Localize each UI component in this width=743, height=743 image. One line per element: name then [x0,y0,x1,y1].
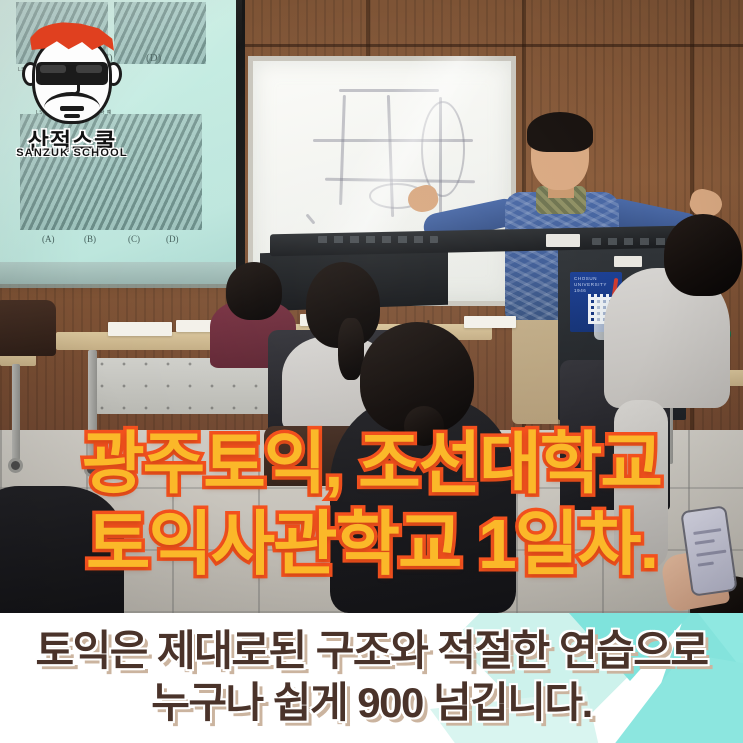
screen-taskbar [0,262,242,288]
banner-text-block: 토익은 제대로된 구조와 적절한 연습으로 누구나 쉽게 900 넘깁니다. [0,625,743,729]
desk-paper [108,322,172,336]
slide-option-a-bottom: (A) [42,234,55,244]
whiteboard-mark [421,101,465,197]
slide-option-d: (D) [146,52,161,64]
student-head [664,214,742,296]
whiteboard-mark [305,213,315,224]
student-head [226,262,282,320]
student-puffer-sleeve [614,400,668,570]
classroom-chair [0,300,56,356]
screen-edge-frame [236,0,245,288]
sunglasses-highlight-icon [40,65,66,73]
whiteboard-mark [339,95,346,205]
desk-leg [12,364,20,460]
banner-line-1: 토익은 제대로된 구조와 적절한 연습으로 [0,625,743,677]
phone-screen-line [695,539,715,545]
bottom-caption-banner: 토익은 제대로된 구조와 적절한 연습으로 누구나 쉽게 900 넘깁니다. [0,613,743,743]
phone-screen-line [696,550,726,557]
phone-screen-line [698,561,714,566]
podium-name-plate [546,234,580,247]
slide-option-b-bottom: (B) [84,234,96,244]
banner-line-2: 누구나 쉽게 900 넘깁니다. [0,677,743,729]
logo-face-group [14,18,130,130]
sanzuk-school-logo-watermark: 산적스쿨 SANZUK SCHOOL [14,18,130,162]
slide-option-d-bottom: (D) [166,234,179,244]
phone-screen-line [693,528,721,535]
mouth-icon [60,106,84,111]
podium-label-tag [614,256,642,267]
sunglasses-highlight-icon [76,65,102,73]
desk-caster [8,458,23,473]
instructor-hair [527,112,593,152]
desk-paper [464,316,516,328]
whiteboard-mark [339,89,439,92]
desk-caster [84,462,99,477]
student-hair-bun [404,406,444,446]
slide-option-c-bottom: (C) [128,234,140,244]
student-torso [0,486,124,613]
podium-button-row [592,238,670,245]
logo-brand-subtitle: SANZUK SCHOOL [14,147,130,159]
chin-beard-icon [64,114,80,118]
podium-button-row [318,236,438,243]
desk-leg [88,350,97,462]
thumbnail-canvas: LSAT 듣기듣는다 객관식문항 예 (A) (B) (C) (D) LSAT … [0,0,743,743]
sticker-line-3: 1946 [574,288,586,294]
